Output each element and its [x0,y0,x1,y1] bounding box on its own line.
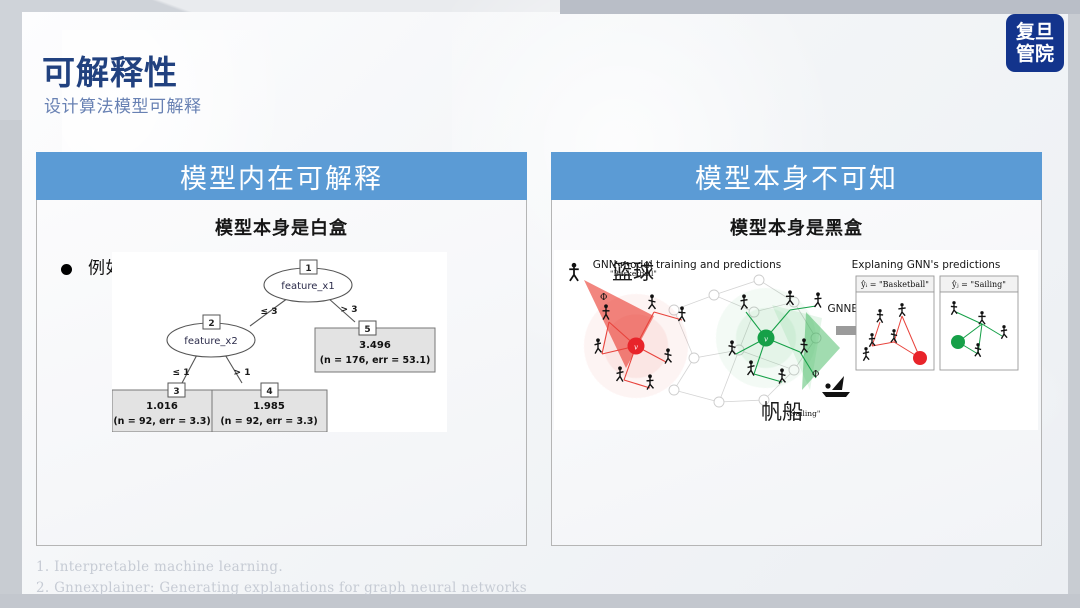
background-top-band [560,0,1080,14]
tree-leaf-4-value: 1.985 [253,401,285,412]
panel-left-header: 模型内在可解释 [36,152,527,200]
footnotes: 1. Interpretable machine learning. 2. Gn… [36,557,527,599]
svg-text:ŷⱼ = "Sailing": ŷⱼ = "Sailing" [951,280,1006,289]
logo-char-1: 复 [1016,21,1035,43]
tree-leaf-4-id: 4 [266,387,272,397]
panel-model-agnostic: 模型本身不可知 模型本身是黑盒 例如：GNNExplainer2（图神经网络解释… [551,152,1042,546]
logo-char-4: 院 [1035,43,1054,65]
logo-char-3: 管 [1016,43,1035,65]
tree-leaf-5-id: 5 [364,325,370,335]
tree-edge-label-gt3: > 3 [341,305,358,315]
panel-right-header: 模型本身不可知 [551,152,1042,200]
panel-intrinsic-interpretable: 模型内在可解释 模型本身是白盒 例如：决策树1 [36,152,527,546]
tree-node-1-label: feature_x1 [281,281,334,292]
bullet-dot-icon [61,264,72,275]
tree-edge-label-le1: ≤ 1 [173,368,190,378]
panel-left-subheader: 模型本身是白盒 [37,214,526,240]
slide-root: 复 旦 管 院 可解释性 设计算法模型可解释 模型内在可解释 模型本身是白盒 例… [0,0,1080,608]
footnote-2: 2. Gnnexplainer: Generating explanations… [36,578,527,599]
panel-left-body: 模型本身是白盒 例如：决策树1 [36,200,527,546]
footnote-1: 1. Interpretable machine learning. [36,557,527,578]
overlay-sailing-cn: 帆船 [761,396,803,426]
gnn-phi-right: Φ [812,370,819,380]
gnn-red-node-label: v [634,344,638,352]
tree-leaf-5-stats: (n = 176, err = 53.1) [320,355,431,366]
tree-leaf-5-value: 3.496 [359,340,391,351]
gnn-green-node-label: v [764,336,768,344]
tree-edge-label-gt1: > 1 [234,368,251,378]
tree-leaf-3-stats: (n = 92, err = 3.3) [113,416,210,427]
panel-right-body: 模型本身是黑盒 例如：GNNExplainer2（图神经网络解释器） GNN m… [551,200,1042,546]
tree-leaf-3-value: 1.016 [146,401,178,412]
svg-text:ŷᵢ = "Basketball": ŷᵢ = "Basketball" [860,280,929,289]
tree-leaf-4-stats: (n = 92, err = 3.3) [220,416,317,427]
tree-node-1-id: 1 [305,264,311,274]
tree-node-2-id: 2 [208,319,214,329]
gnn-prediction-box-right: ŷⱼ = "Sailing" [940,276,1018,370]
gnn-right-title: Explaning GNN's predictions [852,259,1001,271]
gnnexplainer-figure: GNN model training and predictions Expla… [554,250,1038,430]
decision-tree-svg: feature_x1 1 feature_x2 2 ≤ 3 > 3 ≤ 1 > … [112,252,447,432]
logo-characters: 复 旦 管 院 [1016,21,1054,65]
decision-tree-figure: feature_x1 1 feature_x2 2 ≤ 3 > 3 ≤ 1 > … [112,252,447,432]
university-logo: 复 旦 管 院 [1006,14,1064,72]
gnn-phi-left: Φ [600,293,607,303]
tree-edge-label-le3: ≤ 3 [261,307,278,317]
panel-right-subheader: 模型本身是黑盒 [552,214,1041,240]
tree-leaf-3-id: 3 [173,387,179,397]
page-title: 可解释性 [42,46,178,94]
overlay-basketball-cn: 篮球 [612,256,654,286]
tree-node-2-label: feature_x2 [184,336,237,347]
page-subtitle: 设计算法模型可解释 [44,92,202,117]
gnn-prediction-box-left: ŷᵢ = "Basketball" [856,276,934,370]
logo-char-2: 旦 [1035,21,1054,43]
